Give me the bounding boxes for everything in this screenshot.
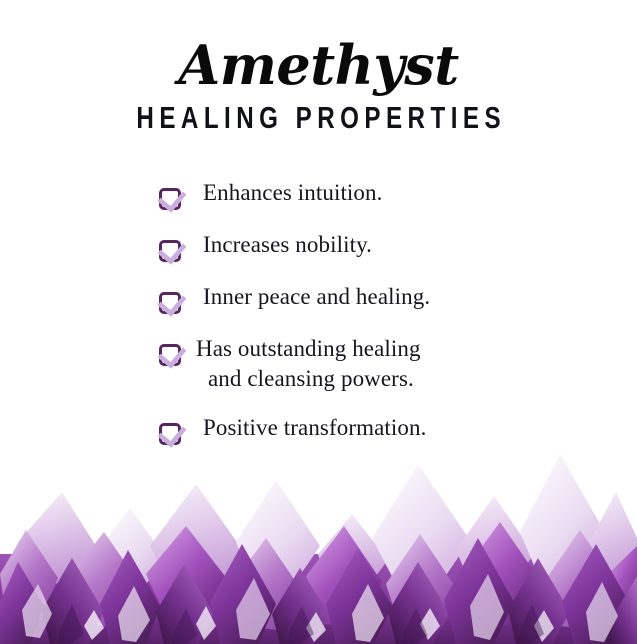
checkbox-checked-icon[interactable] [159,240,181,262]
crystal-artwork-svg [0,434,637,644]
checkbox-checked-icon[interactable] [159,292,181,314]
list-item-label: Has outstanding healing and cleansing po… [0,334,637,395]
list-item[interactable]: Has outstanding healing and cleansing po… [0,334,637,395]
list-item-label: Inner peace and healing. [0,282,637,312]
page-subtitle: HEALING PROPERTIES [70,102,567,133]
checkbox-checked-icon[interactable] [159,344,181,366]
list-item-label-line1: Has outstanding healing [196,336,421,361]
healing-properties-list: Enhances intuition. Increases nobility. … [0,178,637,447]
list-item-label: Increases nobility. [0,230,637,260]
list-item[interactable]: Inner peace and healing. [0,282,637,316]
poster-header: Amethyst HEALING PROPERTIES [0,0,637,133]
list-item-label-line2: and cleansing powers. [196,364,517,394]
page-title: Amethyst [0,38,637,92]
amethyst-crystal-cluster-image [0,434,637,644]
list-item-label: Enhances intuition. [0,178,637,208]
list-item[interactable]: Enhances intuition. [0,178,637,212]
poster-canvas: Amethyst HEALING PROPERTIES Enhances int… [0,0,637,644]
list-item[interactable]: Increases nobility. [0,230,637,264]
checkbox-checked-icon[interactable] [159,188,181,210]
